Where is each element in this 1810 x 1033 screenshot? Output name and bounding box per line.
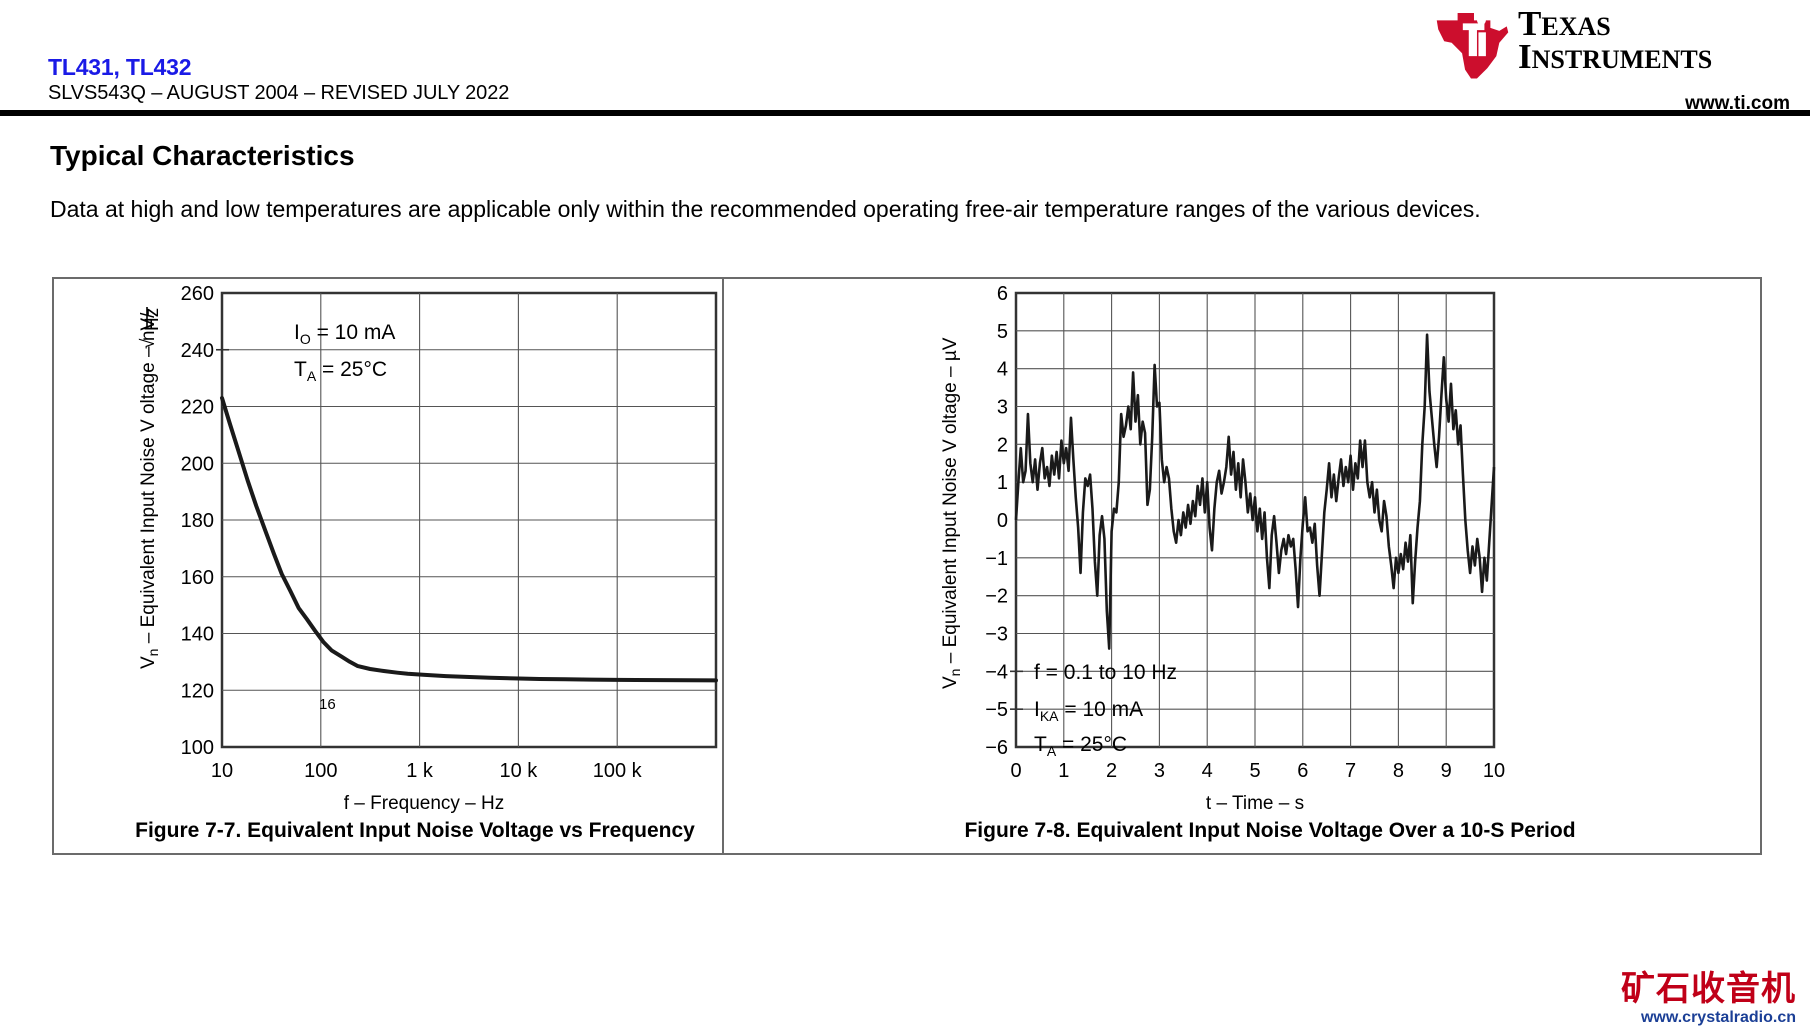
svg-text:0: 0 (1010, 760, 1021, 782)
x-axis-ticklabels: 0 1 2 3 4 5 6 7 8 9 10 (1010, 760, 1505, 782)
section-title: Typical Characteristics (50, 140, 355, 172)
ti-wordmark: TEXAS INSTRUMENTS (1518, 8, 1712, 74)
svg-text:7: 7 (1345, 760, 1356, 782)
figures-divider (722, 277, 724, 855)
svg-text:200: 200 (181, 453, 214, 475)
document-subtitle: SLVS543Q – AUGUST 2004 – REVISED JULY 20… (48, 82, 509, 105)
y-axis-ticklabels: 6 5 4 3 2 1 0 −1 −2 −3 −4 −5 −6 (985, 283, 1008, 759)
header-rule (0, 110, 1810, 116)
watermark-cn-text: 矿石收音机 (1621, 972, 1796, 1006)
svg-text:−6: −6 (985, 737, 1008, 759)
texas-state-icon (1435, 10, 1510, 80)
figure-7-8: 6 5 4 3 2 1 0 −1 −2 −3 −4 −5 −6 0 (778, 279, 1762, 857)
svg-text:3: 3 (1154, 760, 1165, 782)
svg-text:100 k: 100 k (593, 760, 643, 782)
svg-text:4: 4 (1202, 760, 1213, 782)
svg-text:Hz: Hz (142, 308, 163, 331)
svg-text:240: 240 (181, 340, 214, 362)
ti-logo: TEXAS INSTRUMENTS www.ti.com (1430, 8, 1800, 108)
svg-text:6: 6 (997, 283, 1008, 305)
svg-text:5: 5 (997, 321, 1008, 343)
y-axis-label: Vn – Equivalent Input Noise V oltage – µ… (940, 337, 963, 689)
svg-text:140: 140 (181, 624, 214, 646)
page-header: TL431, TL432 SLVS543Q – AUGUST 2004 – RE… (0, 0, 1810, 124)
svg-text:−2: −2 (985, 586, 1008, 608)
svg-text:180: 180 (181, 510, 214, 532)
svg-text:220: 220 (181, 397, 214, 419)
svg-text:160: 160 (181, 567, 214, 589)
svg-text:8: 8 (1393, 760, 1404, 782)
x-axis-label: f – Frequency – Hz (344, 793, 505, 814)
svg-text:10 k: 10 k (499, 760, 538, 782)
svg-text:10: 10 (1483, 760, 1505, 782)
chart-noise-vs-frequency: 260 240 220 200 180 160 140 120 100 10 1… (54, 279, 776, 819)
ti-wordmark-line2: INSTRUMENTS (1518, 41, 1712, 74)
svg-text:√: √ (138, 338, 159, 349)
annotation-freq: f = 0.1 to 10 Hz (1034, 661, 1177, 684)
svg-text:1: 1 (1058, 760, 1069, 782)
svg-text:10: 10 (211, 760, 233, 782)
svg-text:100: 100 (304, 760, 337, 782)
svg-text:9: 9 (1441, 760, 1452, 782)
svg-text:Vn – Equivalent Input Noise V: Vn – Equivalent Input Noise V oltage – n… (138, 312, 161, 669)
svg-text:260: 260 (181, 283, 214, 305)
y-axis-ticklabels: 260 240 220 200 180 160 140 120 100 (181, 283, 214, 759)
figure-7-7: 260 240 220 200 180 160 140 120 100 10 1… (54, 279, 776, 857)
svg-text:5: 5 (1249, 760, 1260, 782)
inline-figure-number: 16 (319, 696, 336, 713)
svg-text:−5: −5 (985, 699, 1008, 721)
svg-text:1: 1 (997, 472, 1008, 494)
figure-7-8-caption: Figure 7-8. Equivalent Input Noise Volta… (778, 819, 1762, 843)
watermark: 矿石收音机 www.crystalradio.cn (1621, 972, 1796, 1027)
watermark-url: www.crystalradio.cn (1621, 1009, 1796, 1027)
svg-text:−1: −1 (985, 548, 1008, 570)
y-axis-label: Vn – Equivalent Input Noise V oltage – n… (138, 307, 163, 669)
svg-text:−3: −3 (985, 624, 1008, 646)
figures-container: 260 240 220 200 180 160 140 120 100 10 1… (52, 277, 1762, 855)
svg-text:2: 2 (997, 434, 1008, 456)
svg-text:6: 6 (1297, 760, 1308, 782)
svg-text:4: 4 (997, 359, 1008, 381)
section-paragraph: Data at high and low temperatures are ap… (50, 193, 1490, 226)
chart-noise-over-time: 6 5 4 3 2 1 0 −1 −2 −3 −4 −5 −6 0 (778, 279, 1762, 819)
svg-text:1 k: 1 k (406, 760, 434, 782)
figure-7-7-caption: Figure 7-7. Equivalent Input Noise Volta… (54, 819, 776, 843)
svg-text:100: 100 (181, 737, 214, 759)
svg-text:3: 3 (997, 397, 1008, 419)
document-title: TL431, TL432 (48, 54, 191, 81)
x-axis-label: t – Time – s (1206, 793, 1304, 814)
svg-text:120: 120 (181, 680, 214, 702)
ti-wordmark-line1: TEXAS (1518, 8, 1712, 41)
x-axis-ticklabels: 10 100 1 k 10 k 100 k (211, 760, 643, 782)
svg-text:−4: −4 (985, 661, 1008, 683)
svg-text:2: 2 (1106, 760, 1117, 782)
svg-text:0: 0 (997, 510, 1008, 532)
